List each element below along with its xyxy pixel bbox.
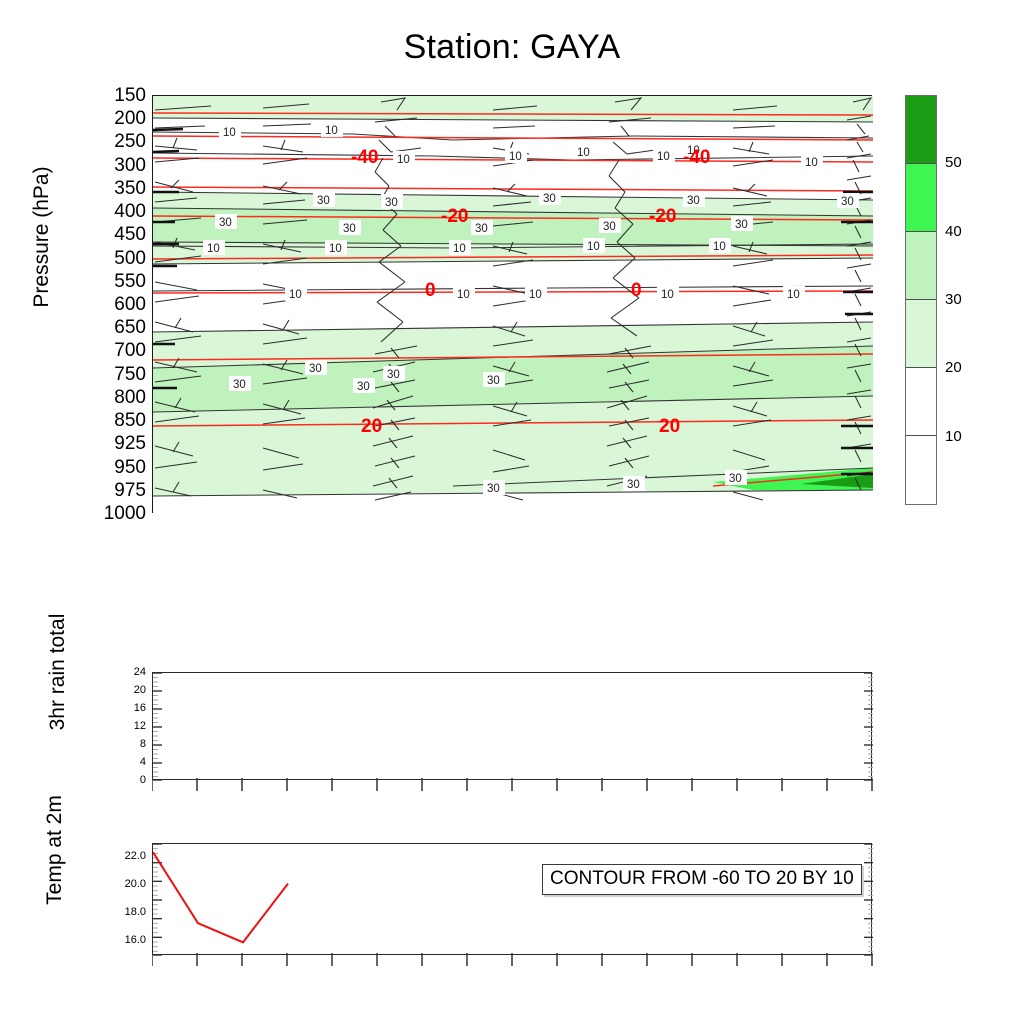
- main-y-tick: 200: [114, 109, 146, 128]
- temp-y-tick: 16.0: [125, 935, 146, 946]
- main-y-tick: 450: [114, 225, 146, 244]
- main-y-tick: 700: [114, 341, 146, 360]
- temp-panel-y-ticks: 22.020.018.016.0: [52, 830, 146, 970]
- main-y-tick: 650: [114, 318, 146, 337]
- svg-text:20: 20: [361, 416, 382, 437]
- main-y-tick: 925: [114, 434, 146, 453]
- svg-text:10: 10: [397, 154, 410, 166]
- rain-y-tick: 12: [134, 721, 146, 732]
- rain-y-tick: 4: [140, 757, 146, 768]
- colorbar-band: [906, 368, 936, 436]
- svg-text:10: 10: [325, 125, 338, 137]
- svg-text:30: 30: [735, 219, 748, 231]
- temp-y-tick: 22.0: [125, 851, 146, 862]
- main-y-tick: 400: [114, 202, 146, 221]
- svg-text:10: 10: [223, 127, 236, 139]
- svg-text:-20: -20: [441, 206, 468, 227]
- svg-text:30: 30: [627, 479, 640, 491]
- svg-text:30: 30: [487, 483, 500, 495]
- svg-text:10: 10: [289, 289, 302, 301]
- svg-text:30: 30: [219, 217, 232, 229]
- rain-y-tick: 8: [140, 739, 146, 750]
- svg-text:30: 30: [387, 369, 400, 381]
- colorbar-band: [906, 96, 936, 164]
- main-y-tick: 750: [114, 365, 146, 384]
- svg-text:30: 30: [233, 379, 246, 391]
- rain-panel-y-ticks: 24201612840: [60, 660, 146, 795]
- main-y-tick: 150: [114, 86, 146, 105]
- svg-text:10: 10: [587, 241, 600, 253]
- temp-2m-panel: [152, 843, 872, 955]
- main-y-tick: 500: [114, 249, 146, 268]
- svg-text:10: 10: [661, 289, 674, 301]
- colorbar-tick: 40: [945, 223, 962, 240]
- main-y-axis-labels: 1502002503003504004505005506006507007508…: [0, 85, 146, 525]
- main-y-tick: 800: [114, 388, 146, 407]
- main-y-tick: 950: [114, 458, 146, 477]
- temp-x-ticks: [152, 953, 874, 967]
- svg-text:10: 10: [509, 151, 522, 163]
- colorbar-tick: 50: [945, 154, 962, 171]
- svg-text:10: 10: [529, 289, 542, 301]
- svg-text:-20: -20: [649, 206, 676, 227]
- colorbar-tick: 10: [945, 428, 962, 445]
- colorbar-band: [906, 232, 936, 300]
- svg-text:0: 0: [425, 280, 436, 301]
- pressure-cross-section-panel: 10 10 10 10 10 10 10 10 30 30 30 30 30 3…: [152, 95, 872, 513]
- svg-text:10: 10: [657, 151, 670, 163]
- temp-y-tick: 18.0: [125, 907, 146, 918]
- page-title: Station: GAYA: [0, 28, 1024, 67]
- rain-plot: [153, 673, 873, 781]
- rain-x-ticks: [152, 778, 874, 792]
- svg-text:10: 10: [787, 289, 800, 301]
- temp-plot: [153, 844, 873, 956]
- rain-y-tick: 0: [140, 775, 146, 786]
- colorbar: [905, 95, 937, 505]
- svg-text:30: 30: [603, 221, 616, 233]
- rain-total-panel: [152, 672, 872, 780]
- cross-section-plot: 10 10 10 10 10 10 10 10 30 30 30 30 30 3…: [153, 96, 873, 514]
- svg-text:30: 30: [729, 473, 742, 485]
- main-y-tick: 300: [114, 156, 146, 175]
- main-y-tick: 1000: [104, 504, 146, 523]
- temp-series-line: [153, 852, 288, 942]
- colorbar-tick: 20: [945, 359, 962, 376]
- svg-text:0: 0: [631, 280, 642, 301]
- main-y-tick: 850: [114, 411, 146, 430]
- svg-text:10: 10: [329, 243, 342, 255]
- svg-text:30: 30: [687, 195, 700, 207]
- svg-text:10: 10: [805, 157, 818, 169]
- colorbar-band: [906, 164, 936, 232]
- colorbar-tick: 30: [945, 291, 962, 308]
- svg-text:20: 20: [659, 416, 680, 437]
- main-y-axis-title: Pressure (hPa): [30, 117, 54, 357]
- svg-text:10: 10: [453, 243, 466, 255]
- svg-text:30: 30: [487, 375, 500, 387]
- contour-note: CONTOUR FROM -60 TO 20 BY 10: [542, 864, 862, 895]
- svg-text:30: 30: [475, 223, 488, 235]
- main-y-tick: 600: [114, 295, 146, 314]
- main-y-tick: 250: [114, 132, 146, 151]
- svg-text:-40: -40: [683, 147, 710, 168]
- svg-text:30: 30: [309, 363, 322, 375]
- rain-y-tick: 20: [134, 685, 146, 696]
- svg-text:30: 30: [841, 196, 854, 208]
- rain-y-tick: 24: [134, 667, 146, 678]
- svg-text:10: 10: [577, 147, 590, 159]
- svg-text:10: 10: [457, 289, 470, 301]
- svg-text:10: 10: [713, 241, 726, 253]
- svg-text:-40: -40: [351, 147, 378, 168]
- main-y-tick: 975: [114, 481, 146, 500]
- main-y-tick: 350: [114, 179, 146, 198]
- svg-text:30: 30: [385, 197, 398, 209]
- main-y-tick: 550: [114, 272, 146, 291]
- svg-text:30: 30: [343, 223, 356, 235]
- colorbar-band: [906, 436, 936, 504]
- temp-y-tick: 20.0: [125, 879, 146, 890]
- rain-y-tick: 16: [134, 703, 146, 714]
- svg-text:30: 30: [357, 381, 370, 393]
- svg-text:30: 30: [543, 193, 556, 205]
- svg-text:30: 30: [317, 195, 330, 207]
- colorbar-band: [906, 300, 936, 368]
- svg-text:10: 10: [207, 243, 220, 255]
